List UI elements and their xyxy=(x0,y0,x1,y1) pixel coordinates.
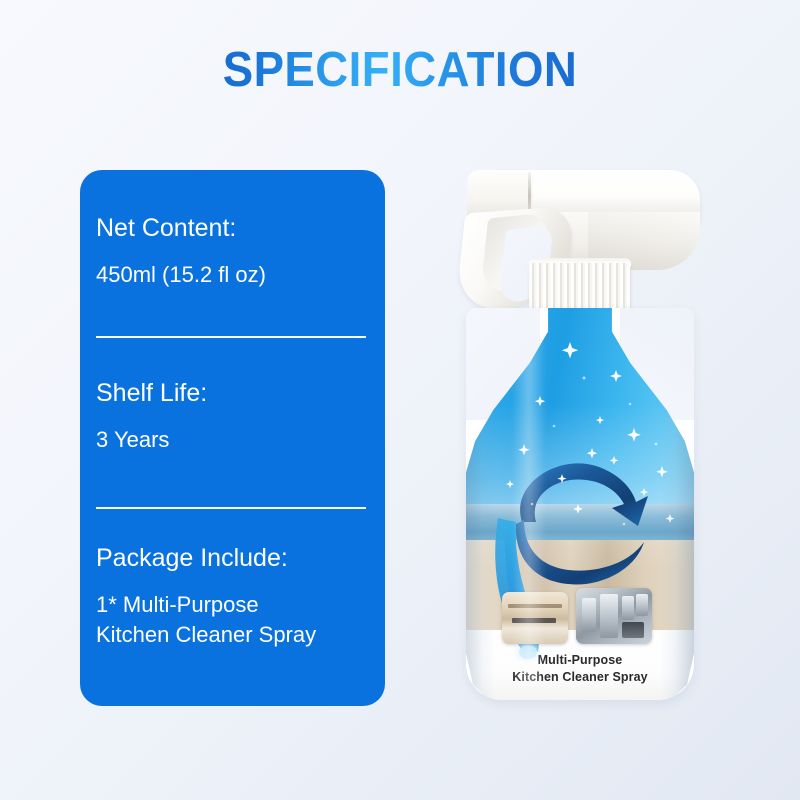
spec-label-net-content: Net Content: xyxy=(96,212,376,244)
panel-divider-2 xyxy=(96,507,366,509)
spec-row-package-include: Package Include: 1* Multi-Purpose Kitche… xyxy=(96,542,376,650)
appliance-detail xyxy=(582,598,596,632)
appliance-detail xyxy=(600,594,618,638)
appliance-detail xyxy=(636,594,648,616)
page-title: SPECIFICATION xyxy=(28,40,772,100)
spec-value-shelf-life: 3 Years xyxy=(96,425,376,455)
specification-page: SPECIFICATION Net Content: 450ml (15.2 f… xyxy=(0,0,800,800)
appliance-detail xyxy=(622,622,644,638)
bottle-body: Multi-Purpose Kitchen Cleaner Spray xyxy=(466,308,694,700)
spec-label-shelf-life: Shelf Life: xyxy=(96,377,376,409)
spec-row-shelf-life: Shelf Life: 3 Years xyxy=(96,377,376,455)
specification-panel: Net Content: 450ml (15.2 fl oz) Shelf Li… xyxy=(80,170,385,706)
spec-value-package-include-line2: Kitchen Cleaner Spray xyxy=(96,620,376,650)
spec-label-package-include: Package Include: xyxy=(96,542,376,574)
spec-value-net-content: 450ml (15.2 fl oz) xyxy=(96,260,376,290)
spray-trigger-head xyxy=(440,150,720,300)
appliance-detail xyxy=(622,596,634,620)
product-image-spray-bottle: Multi-Purpose Kitchen Cleaner Spray xyxy=(440,150,720,720)
spec-value-package-include-line1: 1* Multi-Purpose xyxy=(96,590,376,620)
kitchen-appliances-photo xyxy=(576,588,652,644)
panel-divider-1 xyxy=(96,336,366,338)
spec-row-net-content: Net Content: 450ml (15.2 fl oz) xyxy=(96,212,376,290)
